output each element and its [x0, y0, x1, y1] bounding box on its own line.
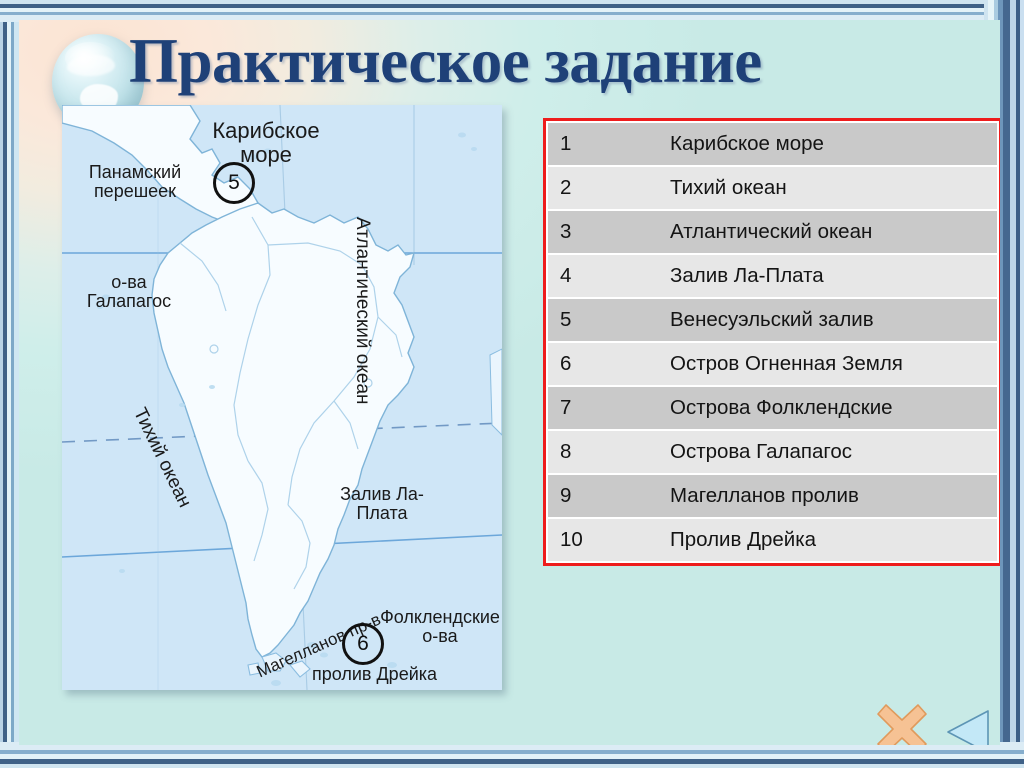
map-label-atlantic-ocean: Атлантический океан: [351, 217, 372, 405]
map-marker-5: 5: [213, 162, 255, 204]
table-cell-name: Остров Огненная Земля: [658, 342, 997, 386]
table-row: 9Магелланов пролив: [548, 474, 997, 518]
table-cell-name: Острова Галапагос: [658, 430, 997, 474]
map-label-galapagos: о-ва Галапагос: [74, 273, 184, 312]
table-cell-number: 1: [548, 123, 658, 166]
table-row: 8Острова Галапагос: [548, 430, 997, 474]
table-cell-number: 4: [548, 254, 658, 298]
map-marker-6: 6: [342, 623, 384, 665]
map-label-falkland-islands: Фолклендские о-ва: [380, 608, 500, 647]
answers-table-container: 1Карибское море2Тихий океан3Атлантически…: [543, 118, 1000, 566]
map-label-drake-passage: пролив Дрейка: [312, 665, 437, 684]
table-row: 4Залив Ла-Плата: [548, 254, 997, 298]
table-cell-number: 2: [548, 166, 658, 210]
table-cell-name: Венесуэльский залив: [658, 298, 997, 342]
table-row: 3Атлантический океан: [548, 210, 997, 254]
slide: Практическое задание: [0, 0, 1024, 768]
table-cell-number: 5: [548, 298, 658, 342]
table-cell-name: Карибское море: [658, 123, 997, 166]
close-x-icon[interactable]: [874, 701, 930, 745]
slide-frame-bottom: [0, 742, 1024, 768]
table-cell-name: Магелланов пролив: [658, 474, 997, 518]
table-cell-number: 6: [548, 342, 658, 386]
table-cell-name: Атлантический океан: [658, 210, 997, 254]
table-row: 7Острова Фолклендские: [548, 386, 997, 430]
table-cell-name: Залив Ла-Плата: [658, 254, 997, 298]
map-label-panama-isthmus: Панамский перешеек: [70, 163, 200, 202]
table-row: 6Остров Огненная Земля: [548, 342, 997, 386]
map-label-la-plata-bay: Залив Ла-Плата: [332, 485, 432, 524]
back-triangle-icon[interactable]: [944, 708, 992, 745]
table-cell-number: 3: [548, 210, 658, 254]
table-row: 2Тихий океан: [548, 166, 997, 210]
contour-map: Карибское море Панамский перешеек о-ва Г…: [62, 105, 502, 690]
table-cell-name: Тихий океан: [658, 166, 997, 210]
table-row: 10Пролив Дрейка: [548, 518, 997, 561]
table-cell-number: 10: [548, 518, 658, 561]
slide-frame-top: [0, 0, 1024, 22]
table-cell-number: 7: [548, 386, 658, 430]
answers-table: 1Карибское море2Тихий океан3Атлантически…: [548, 123, 997, 561]
page-title: Практическое задание: [129, 28, 989, 94]
map-label-caribbean-sea: Карибское море: [186, 119, 346, 167]
table-cell-name: Пролив Дрейка: [658, 518, 997, 561]
table-row: 5Венесуэльский залив: [548, 298, 997, 342]
table-cell-name: Острова Фолклендские: [658, 386, 997, 430]
slide-canvas: Практическое задание: [19, 20, 1000, 745]
table-row: 1Карибское море: [548, 123, 997, 166]
table-cell-number: 9: [548, 474, 658, 518]
table-cell-number: 8: [548, 430, 658, 474]
